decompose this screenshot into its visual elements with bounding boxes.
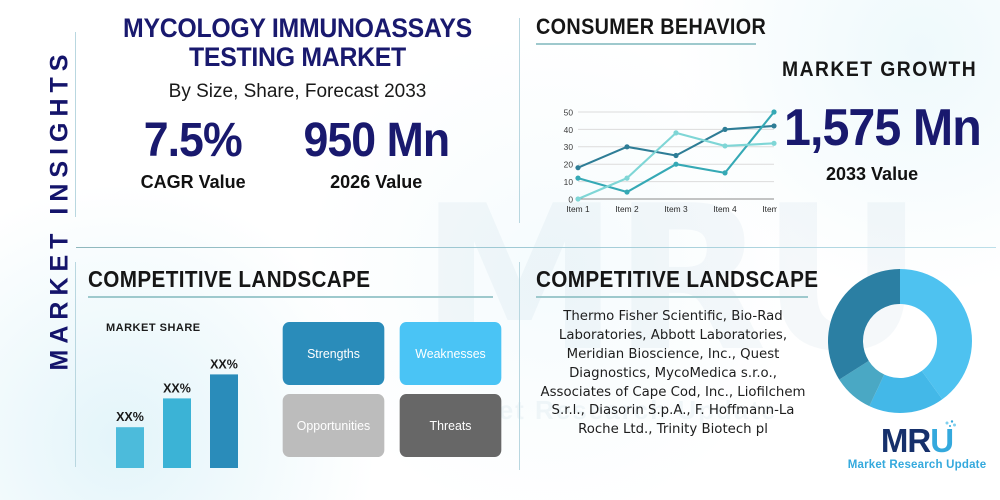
svg-text:XX%: XX% [116, 410, 144, 424]
svg-text:50: 50 [564, 107, 574, 117]
stat-2026-label: 2026 Value [298, 172, 455, 193]
competitive-right-underline [536, 296, 808, 298]
svg-text:Item 5: Item 5 [762, 204, 777, 214]
rail-divider-top [75, 32, 76, 217]
swot-box-opportunities[interactable]: Opportunities [283, 394, 385, 457]
vertical-divider-top [519, 18, 520, 223]
stat-2026: 950 Mn 2026 Value [298, 117, 455, 193]
svg-text:XX%: XX% [163, 381, 191, 395]
headline-stats: 7.5% CAGR Value 950 Mn 2026 Value [85, 117, 510, 193]
competitive-landscape-right: COMPETITIVE LANDSCAPE Thermo Fisher Scie… [536, 266, 996, 298]
consumer-behavior-heading: CONSUMER BEHAVIOR [536, 14, 946, 40]
svg-text:Item 2: Item 2 [615, 204, 639, 214]
infographic-root: MRU Market Research Update MARKET INSIGH… [0, 0, 1000, 500]
logo-mark-primary: MR [881, 422, 930, 459]
svg-text:40: 40 [564, 125, 574, 135]
stat-cagr-value: 7.5% [144, 117, 242, 165]
page-title: MYCOLOGY IMMUNOASSAYS TESTING MARKET [102, 14, 493, 71]
market-growth-heading: MARKET GROWTH [782, 58, 977, 82]
company-list: Thermo Fisher Scientific, Bio-Rad Labora… [538, 308, 808, 440]
market-growth-label: 2033 Value [826, 164, 918, 185]
svg-text:XX%: XX% [210, 357, 238, 371]
competitive-donut-chart [824, 265, 976, 417]
swot-box-label: Opportunities [297, 418, 370, 433]
stat-cagr: 7.5% CAGR Value [140, 117, 245, 193]
market-share-bar-chart: XX%XX%XX% [104, 324, 274, 474]
market-insights-rail-label: MARKET INSIGHTS [46, 45, 75, 375]
market-growth-value: 1,575 Mn [784, 102, 981, 154]
swot-box-label: Threats [430, 418, 472, 433]
svg-text:20: 20 [564, 160, 574, 170]
swot-grid: StrengthsWeaknessesOpportunitiesThreats [280, 322, 504, 457]
logo-tagline: Market Research Update [842, 459, 992, 471]
stat-2026-value: 950 Mn [303, 117, 449, 165]
competitive-left-heading: COMPETITIVE LANDSCAPE [88, 266, 471, 293]
competitive-left-underline [88, 296, 493, 298]
stat-cagr-label: CAGR Value [140, 172, 245, 193]
competitive-landscape-left: COMPETITIVE LANDSCAPE MARKET SHARE XX%XX… [88, 266, 513, 298]
swot-box-strengths[interactable]: Strengths [283, 322, 385, 385]
swot-box-label: Strengths [307, 346, 360, 361]
svg-text:Item 3: Item 3 [664, 204, 688, 214]
svg-text:0: 0 [568, 194, 573, 204]
svg-text:30: 30 [564, 142, 574, 152]
mru-logo: MRU Market Research Update [842, 424, 992, 471]
swot-box-weaknesses[interactable]: Weaknesses [400, 322, 502, 385]
svg-text:Item 4: Item 4 [713, 204, 737, 214]
logo-wordmark: MRU [881, 424, 953, 457]
consumer-behavior-line-chart: 01020304050Item 1Item 2Item 3Item 4Item … [552, 102, 777, 227]
title-block: MYCOLOGY IMMUNOASSAYS TESTING MARKET By … [85, 14, 510, 193]
page-subtitle: By Size, Share, Forecast 2033 [85, 81, 510, 103]
svg-text:Item 1: Item 1 [566, 204, 590, 214]
svg-text:10: 10 [564, 177, 574, 187]
swot-box-label: Weaknesses [415, 346, 485, 361]
logo-droplet-icon [943, 419, 957, 433]
consumer-behavior-section: CONSUMER BEHAVIOR MARKET GROWTH 1,575 Mn… [536, 14, 991, 45]
horizontal-divider [76, 247, 996, 248]
swot-box-threats[interactable]: Threats [400, 394, 502, 457]
rail-divider-bottom [75, 262, 76, 467]
vertical-divider-bottom [519, 262, 520, 470]
consumer-behavior-underline [536, 43, 756, 45]
